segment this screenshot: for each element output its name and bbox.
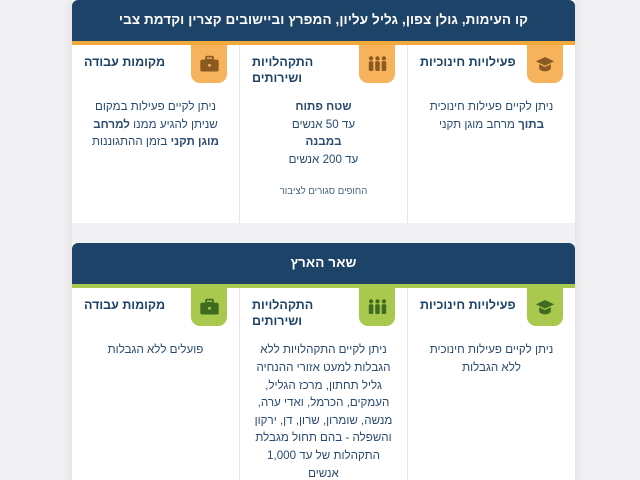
card-title: התקהלויות ושירותים bbox=[252, 288, 350, 329]
section-header-title: שאר הארץ bbox=[72, 243, 575, 284]
card-header: פעילויות חינוכיות bbox=[408, 45, 575, 89]
section-cards-row: פעילויות חינוכיות ניתן לקיים פעילות חינו… bbox=[72, 45, 575, 223]
card-gatherings-services-rest[interactable]: התקהלויות ושירותים ניתן לקיים התקהלויות … bbox=[240, 288, 408, 480]
card-educational-activity[interactable]: פעילויות חינוכיות ניתן לקיים פעילות חינו… bbox=[408, 45, 575, 223]
card-gatherings-services[interactable]: התקהלויות ושירותים שטח פתוחעד 50 אנשיםבמ… bbox=[240, 45, 408, 223]
card-body: שטח פתוחעד 50 אנשיםבמבנהעד 200 אנשים bbox=[240, 89, 407, 168]
three-people-icon bbox=[359, 45, 395, 83]
section-rest-of-country: שאר הארץ פעילויות חינוכיות ניתן לקיים פע… bbox=[72, 243, 575, 480]
card-header: התקהלויות ושירותים bbox=[240, 288, 407, 332]
card-title: מקומות עבודה bbox=[84, 45, 182, 70]
card-title: מקומות עבודה bbox=[84, 288, 182, 313]
card-workplaces[interactable]: מקומות עבודה ניתן לקיים פעילות במקום שני… bbox=[72, 45, 240, 223]
section-cards-row: פעילויות חינוכיות ניתן לקיים פעילות חינו… bbox=[72, 288, 575, 480]
card-educational-activity-rest[interactable]: פעילויות חינוכיות ניתן לקיים פעילות חינו… bbox=[408, 288, 575, 480]
card-header: מקומות עבודה bbox=[72, 45, 239, 89]
section-divider bbox=[72, 223, 575, 243]
card-body: ניתן לקיים התקהלויות ללא הגבלות למעט אזו… bbox=[240, 332, 407, 480]
card-title: פעילויות חינוכיות bbox=[420, 45, 518, 70]
briefcase-icon bbox=[191, 288, 227, 326]
card-body: פועלים ללא הגבלות bbox=[72, 332, 239, 359]
section-confrontation-line: קו העימות, גולן צפון, גליל עליון, המפרץ … bbox=[72, 0, 575, 223]
briefcase-icon bbox=[191, 45, 227, 83]
graduation-cap-icon bbox=[527, 288, 563, 326]
card-body: ניתן לקיים פעילות חינוכית בתוך מרחב מוגן… bbox=[408, 89, 575, 133]
card-workplaces-rest[interactable]: מקומות עבודה פועלים ללא הגבלות bbox=[72, 288, 240, 480]
card-title: פעילויות חינוכיות bbox=[420, 288, 518, 313]
card-header: פעילויות חינוכיות bbox=[408, 288, 575, 332]
card-header: התקהלויות ושירותים bbox=[240, 45, 407, 89]
card-body: ניתן לקיים פעילות חינוכית ללא הגבלות bbox=[408, 332, 575, 376]
content-panel: קו העימות, גולן צפון, גליל עליון, המפרץ … bbox=[72, 0, 575, 480]
card-note: החופים סגורים לציבור bbox=[240, 169, 407, 198]
graduation-cap-icon bbox=[527, 45, 563, 83]
section-header-title: קו העימות, גולן צפון, גליל עליון, המפרץ … bbox=[72, 0, 575, 41]
three-people-icon bbox=[359, 288, 395, 326]
card-header: מקומות עבודה bbox=[72, 288, 239, 332]
card-body: ניתן לקיים פעילות במקום שניתן להגיע ממנו… bbox=[72, 89, 239, 151]
card-title: התקהלויות ושירותים bbox=[252, 45, 350, 86]
